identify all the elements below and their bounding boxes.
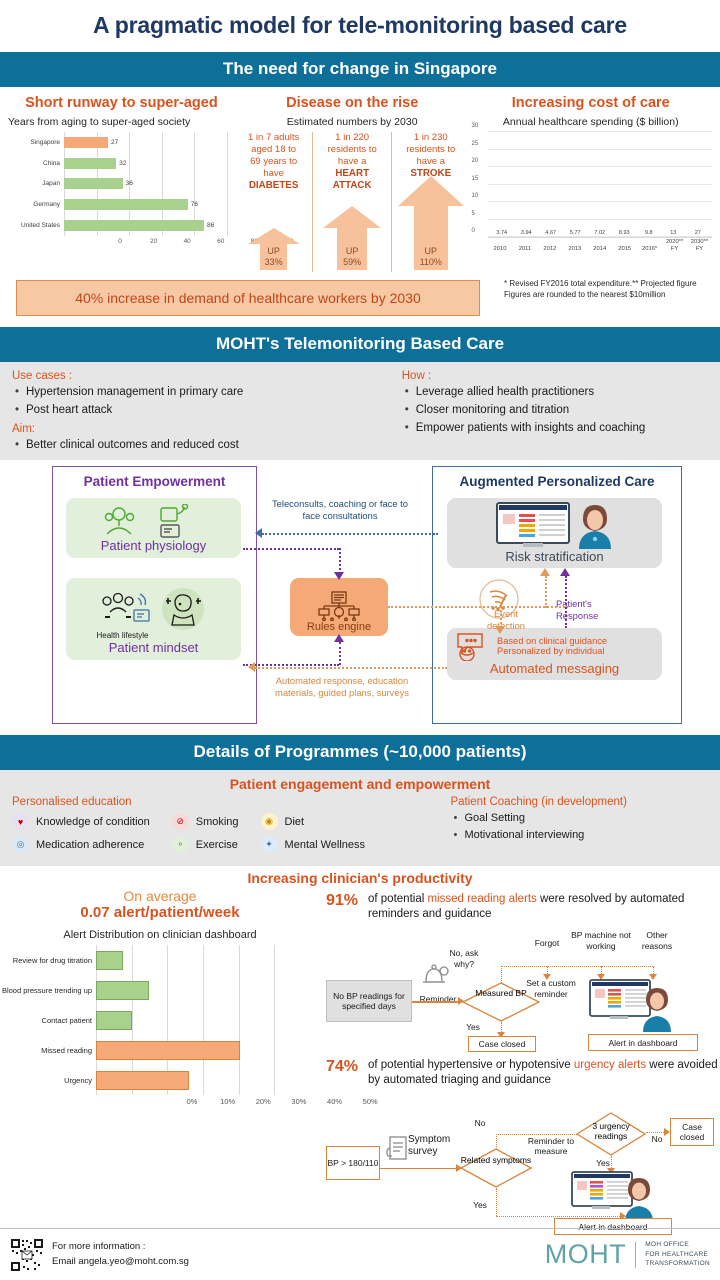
logo-sub-1: MOH OFFICE	[645, 1240, 710, 1249]
clinician-productivity-section: On average 0.07 alert/patient/week Alert…	[0, 888, 720, 1228]
education-item-label: Exercise	[196, 839, 238, 851]
connector-teleconsults	[262, 533, 438, 535]
bar-value: 4.67	[545, 230, 556, 236]
flow-label-automated-response: Automated response, education materials,…	[258, 675, 426, 699]
stat-74-text-a: of potential hypertensive or hypotensive	[368, 1059, 574, 1071]
label-risk-stratification: Risk stratification	[505, 549, 603, 568]
bar-value: 9.8	[645, 230, 653, 236]
stat-74-line: 74% of potential hypertensive or hypoten…	[320, 1058, 720, 1088]
bar-row: Singapore27	[64, 132, 227, 153]
arrow-label: UP59%	[329, 246, 375, 267]
section-need-for-change: Short runway to super-aged Years from ag…	[0, 87, 720, 316]
bar-label: United States	[8, 222, 60, 229]
axis-tick: 40	[184, 238, 191, 245]
bar	[96, 1011, 132, 1030]
bar-value: 27	[695, 230, 701, 236]
flow-label-teleconsults: Teleconsults, coaching or face to face c…	[262, 498, 418, 522]
moht-logo: MOHT MOH OFFICE FOR HEALTHCARE TRANSFORM…	[545, 1239, 710, 1270]
education-column: ♥Knowledge of condition◎Medication adher…	[12, 810, 150, 856]
avg-line-2: 0.07 alert/patient/week	[0, 904, 320, 921]
panel-title-augmented-care: Augmented Personalized Care	[433, 467, 681, 489]
stat-74-percent: 74%	[326, 1058, 368, 1076]
use-cases-block: Use cases : Hypertension management in p…	[12, 370, 402, 454]
how-heading: How :	[402, 370, 708, 382]
axis-label: 2015	[612, 239, 637, 252]
connector-physiology-to-rules	[243, 548, 339, 550]
axis-label: 2014	[587, 239, 612, 252]
bar-column: 4.67	[539, 230, 564, 237]
coaching-heading: Patient Coaching (in development)	[450, 796, 708, 808]
bar-value: 86	[207, 222, 214, 229]
axis-tick: 10	[472, 193, 479, 199]
connector-physiology-vert	[339, 548, 341, 574]
bar	[64, 158, 116, 169]
arrow-head	[248, 228, 300, 244]
connector-event-vert	[500, 606, 502, 628]
arrow-label: UP33%	[251, 246, 297, 267]
flow74-decision-2-label: 3 urgency readings	[576, 1122, 646, 1142]
stat-74-text: of potential hypertensive or hypotensive…	[368, 1058, 720, 1088]
use-case-item: Post heart attack	[12, 402, 402, 420]
bar-label: Contact patient	[0, 1016, 92, 1025]
flow91-line-top	[501, 966, 653, 967]
logo-divider	[635, 1242, 636, 1268]
bar-label: Germany	[8, 201, 60, 208]
col-cost-of-care: Increasing cost of care Annual healthcar…	[470, 95, 712, 272]
coaching-item: Goal Setting	[450, 810, 708, 827]
bar	[64, 178, 123, 189]
stat-91-text: of potential missed reading alerts were …	[368, 892, 720, 922]
bar-row: Blood pressure trending up	[96, 975, 292, 1005]
bar-column: 8.93	[612, 230, 637, 237]
disease-stat-text: 1 in 7 adultsaged 18 to69 years tohaveDI…	[248, 132, 299, 192]
bar	[96, 951, 123, 970]
bar-column: 5.77	[563, 230, 588, 237]
education-item-label: Smoking	[196, 816, 239, 828]
axis-tick: 5	[472, 211, 475, 217]
page-title: A pragmatic model for tele-monitoring ba…	[0, 0, 720, 52]
disease-stat: 1 in 7 adultsaged 18 to69 years tohaveDI…	[235, 132, 313, 272]
aim-item: Better clinical outcomes and reduced cos…	[12, 437, 402, 455]
section-band-need-for-change: The need for change in Singapore	[0, 52, 720, 87]
bar-column: 7.02	[588, 230, 613, 237]
footer-line-1: For more information :	[52, 1240, 189, 1254]
bar-column: 9.8	[637, 230, 662, 237]
footer-contact: For more information : Email angela.yeo@…	[52, 1240, 189, 1269]
education-item-label: Knowledge of condition	[36, 816, 150, 828]
gridline	[227, 132, 228, 236]
arrowhead-to-automated-msg	[495, 626, 505, 634]
flow-missed-reading: No BP readings for specified days Remind…	[320, 922, 720, 1052]
flow74-line-no-up	[496, 1134, 497, 1149]
section-band-moht: MOHT's Telemonitoring Based Care	[0, 327, 720, 362]
logo-wordmark: MOHT	[545, 1239, 626, 1270]
label-health-lifestyle: Health lifestyle	[96, 631, 148, 640]
footnote-1: * Revised FY2016 total expenditure.** Pr…	[500, 278, 697, 289]
arrow-head	[323, 206, 381, 228]
flow91-alert-dashboard: Alert in dashboard	[588, 1034, 698, 1051]
axis-label: 2016*	[637, 239, 662, 252]
arrow-shape: UP59%	[323, 206, 381, 270]
axis-tick: 30%	[291, 1097, 306, 1106]
axis-tick: 30	[472, 123, 479, 129]
flow91-reason-forgot: Forgot	[526, 938, 568, 948]
pill-icon: ◎	[12, 836, 29, 853]
col-disease-rise: Disease on the rise Estimated numbers by…	[235, 95, 470, 272]
flow74-no-label: No	[460, 1118, 500, 1128]
use-case-item: Hypertension management in primary care	[12, 384, 402, 402]
section-moht-telemonitoring: Use cases : Hypertension management in p…	[0, 362, 720, 460]
bar	[96, 1041, 240, 1060]
section-programmes: Patient engagement and empowerment Perso…	[0, 770, 720, 866]
bar-row: Review for drug titration	[96, 945, 292, 975]
arrowhead-automated-back	[248, 662, 255, 672]
panel-title-patient-empowerment: Patient Empowerment	[53, 467, 256, 489]
disease-stat: 1 in 220residents tohave aHEARTATTACKUP5…	[312, 132, 391, 272]
education-item-label: Mental Wellness	[285, 839, 366, 851]
footer-line-2: Email angela.yeo@moht.com.sg	[52, 1255, 189, 1269]
education-item: ◎Medication adherence	[12, 833, 150, 856]
logo-sub-2: FOR HEALTHCARE	[645, 1250, 710, 1259]
card-patient-physiology: Patient physiology	[66, 498, 241, 558]
label-patient-physiology: Patient physiology	[101, 538, 207, 558]
card-patient-mindset: Health lifestyle Patient mindset	[66, 578, 241, 660]
arrow-shape: UP33%	[248, 228, 300, 270]
chat-bot-icon	[455, 631, 493, 661]
no-smoking-icon: ⊘	[172, 813, 189, 830]
flow91-line-start-to-decision	[412, 1001, 460, 1002]
subheading-disease: Disease on the rise	[235, 95, 470, 111]
automated-messaging-sub1: Based on clinical guidance	[497, 636, 607, 646]
flow-label-event-detection: Event detection	[476, 608, 536, 632]
flow74-decision-1-label: Related symptoms	[460, 1156, 532, 1166]
infographic-page: A pragmatic model for tele-monitoring ba…	[0, 0, 720, 1280]
connector-rules-to-event	[388, 606, 568, 608]
bar-value: 3.74	[496, 230, 507, 236]
axis-tick: 0	[118, 238, 122, 245]
up-arrow: UP110%	[398, 176, 464, 270]
bar-row: Missed reading	[96, 1035, 292, 1065]
chart-spending: 0510152025303.743.944.675.777.028.939.81…	[470, 132, 712, 262]
disease-stat-text: 1 in 230residents tohave aSTROKE	[406, 132, 455, 180]
axis-label: 2011	[512, 239, 537, 252]
axis-tick: 25	[472, 141, 479, 147]
bar-label: China	[8, 160, 60, 167]
mental-wellness-icon: ✦	[261, 836, 278, 853]
card-risk-stratification: Risk stratification	[447, 498, 662, 568]
bar-value: 36	[126, 180, 133, 187]
bar-value: 5.77	[570, 230, 581, 236]
bar-value: 32	[119, 160, 126, 167]
flow91-reason-other: Other reasons	[634, 930, 680, 950]
node-rules-engine: Rules engine	[290, 578, 388, 636]
qr-code-icon	[10, 1238, 44, 1272]
connector-mindset-vert	[339, 642, 341, 665]
col-short-runway: Short runway to super-aged Years from ag…	[8, 95, 235, 272]
engagement-heading: Patient engagement and empowerment	[0, 770, 720, 796]
chart-runway: Singapore27China32Japan36Germany76United…	[8, 132, 235, 254]
bar-row: Germany76	[64, 194, 227, 215]
flow91-custom-reminder: Set a custom reminder	[524, 978, 578, 998]
arrow-head	[398, 176, 464, 206]
axis-tick: 0%	[187, 1097, 198, 1106]
bar-row: China32	[64, 153, 227, 174]
bar-label: Blood pressure trending up	[0, 986, 92, 995]
bar-column: 27	[686, 230, 711, 237]
education-item: ♥Knowledge of condition	[12, 810, 150, 833]
arrow-label: UP110%	[408, 246, 454, 267]
care-model-diagram: Patient Empowerment Patient physiology	[0, 460, 720, 735]
bar-label: Review for drug titration	[0, 956, 92, 965]
axis-tick: 0	[472, 228, 475, 234]
flow74-yes2-label: Yes	[588, 1158, 618, 1168]
stat-91-percent: 91%	[326, 892, 368, 910]
alert-chart-caption: Alert Distribution on clinician dashboar…	[0, 921, 320, 945]
use-cases-heading: Use cases :	[12, 370, 402, 382]
bar-value: 3.94	[521, 230, 532, 236]
bar-row: Japan36	[64, 174, 227, 195]
axis-tick: 20	[150, 238, 157, 245]
bar	[64, 220, 204, 231]
axis-tick: 60	[217, 238, 224, 245]
caption-disease: Estimated numbers by 2030	[235, 116, 470, 128]
bar-value: 8.93	[619, 230, 630, 236]
aim-heading: Aim:	[12, 423, 402, 435]
axis-tick: 20%	[256, 1097, 271, 1106]
coaching-item: Motivational interviewing	[450, 827, 708, 844]
clinician-productivity-heading: Increasing clinician's productivity	[0, 866, 720, 888]
flow74-dashboard-icon	[570, 1170, 660, 1222]
symptom-survey-icon	[384, 1134, 410, 1164]
caption-runway-chart: Years from aging to super-aged society	[8, 116, 235, 128]
card-automated-messaging: Based on clinical guidance Personalized …	[447, 628, 662, 680]
bar-column: 3.74	[490, 230, 515, 237]
bar-label: Urgency	[0, 1076, 92, 1085]
footnote-2: Figures are rounded to the nearest $10mi…	[500, 289, 697, 300]
dashboard-monitor-icon	[495, 501, 575, 549]
flow74-line-yes-down	[496, 1188, 497, 1216]
how-block: How : Leverage allied health practitione…	[402, 370, 708, 454]
bar	[64, 137, 108, 148]
flow74-yes-label: Yes	[460, 1200, 500, 1210]
axis-tick: 15	[472, 176, 479, 182]
flow74-decision-2: 3 urgency readings	[576, 1112, 646, 1156]
education-item: ◉Diet	[261, 810, 366, 833]
how-item: Empower patients with insights and coach…	[402, 420, 708, 438]
label-patient-mindset: Patient mindset	[109, 640, 199, 660]
education-column: ◉Diet✦Mental Wellness	[261, 810, 366, 856]
bar-row: Contact patient	[96, 1005, 292, 1035]
flow91-line-up	[501, 966, 502, 983]
logo-sub-3: TRANSFORMATION	[645, 1259, 710, 1268]
connector-patient-response	[565, 576, 567, 628]
heart-lungs-icon: ♥	[12, 813, 29, 830]
arrowhead-to-rules-engine	[334, 572, 344, 580]
bar-label: Missed reading	[0, 1046, 92, 1055]
bar-column: 13	[661, 230, 686, 237]
arrowhead-event-up	[540, 568, 550, 576]
flow74-start: BP > 180/110	[326, 1146, 380, 1180]
education-item: ✦Mental Wellness	[261, 833, 366, 856]
flow91-yes-label: Yes	[460, 1022, 486, 1032]
bar-label: Singapore	[8, 139, 60, 146]
logo-subtext: MOH OFFICE FOR HEALTHCARE TRANSFORMATION	[645, 1240, 710, 1268]
flow-urgency-alerts: BP > 180/110 Symptom survey Related symp…	[320, 1088, 720, 1228]
bar	[96, 981, 149, 1000]
subheading-cost: Increasing cost of care	[470, 95, 712, 111]
caption-spending: Annual healthcare spending ($ billion)	[470, 116, 712, 128]
callout-workforce: 40% increase in demand of healthcare wor…	[16, 280, 480, 316]
patient-physiology-icon	[99, 504, 209, 538]
flow74-case-closed: Case closed	[670, 1118, 714, 1146]
section-band-programmes: Details of Programmes (~10,000 patients)	[0, 735, 720, 770]
axis-tick: 10%	[220, 1097, 235, 1106]
disease-stat: 1 in 230residents tohave aSTROKEUP110%	[391, 132, 470, 272]
axis-label: 2010	[488, 239, 513, 252]
education-item-label: Diet	[285, 816, 305, 828]
education-item: ⚬Exercise	[172, 833, 239, 856]
stat-91-highlight: missed reading alerts	[427, 893, 536, 905]
connector-event-to-risk	[545, 576, 547, 608]
bar	[96, 1071, 189, 1090]
connector-automated-back	[255, 667, 447, 669]
alert-distribution-block: On average 0.07 alert/patient/week Alert…	[0, 888, 320, 1228]
education-item: ⊘Smoking	[172, 810, 239, 833]
arrowhead-patient-response	[560, 568, 570, 576]
avg-line-1: On average	[0, 888, 320, 904]
stat-91-line: 91% of potential missed reading alerts w…	[320, 892, 720, 922]
axis-label: 2030**FY	[687, 239, 712, 252]
bar-row: Urgency	[96, 1065, 292, 1095]
flow74-survey-label: Symptom survey	[408, 1134, 460, 1158]
education-column: ⊘Smoking⚬Exercise	[172, 810, 239, 856]
flow91-reason-machine: BP machine not working	[570, 930, 632, 950]
bar	[64, 199, 188, 210]
stat-74-highlight: urgency alerts	[574, 1059, 646, 1071]
flow91-dashboard-icon	[588, 978, 678, 1032]
disease-arrows-group: 1 in 7 adultsaged 18 to69 years tohaveDI…	[235, 132, 470, 272]
up-arrow: UP59%	[323, 206, 381, 270]
diet-icon: ◉	[261, 813, 278, 830]
bar-value: 7.02	[594, 230, 605, 236]
stat-91-text-a: of potential	[368, 893, 427, 905]
flow91-reminder-label: Reminder	[416, 994, 460, 1004]
automated-messaging-sub2: Personalized by individual	[497, 646, 607, 656]
personalised-education-block: Personalised education ♥Knowledge of con…	[12, 796, 450, 856]
bar-value: 27	[111, 139, 118, 146]
up-arrow: UP33%	[248, 228, 300, 270]
clinician-avatar-icon	[575, 501, 615, 549]
bar-value: 76	[191, 201, 198, 208]
arrow-shape: UP110%	[398, 176, 464, 270]
education-heading: Personalised education	[12, 796, 450, 808]
axis-label: 2013	[562, 239, 587, 252]
connector-mindset-to-rules	[243, 664, 339, 666]
patient-mindset-icon	[158, 587, 208, 631]
page-footer: For more information : Email angela.yeo@…	[0, 1228, 720, 1280]
cycling-icon: ⚬	[172, 836, 189, 853]
health-lifestyle-icon	[100, 590, 158, 628]
how-item: Closer monitoring and titration	[402, 402, 708, 420]
flow-blocks: 91% of potential missed reading alerts w…	[320, 888, 720, 1228]
disease-stat-text: 1 in 220residents tohave aHEARTATTACK	[328, 132, 377, 192]
arrowhead-teleconsults	[255, 528, 262, 538]
axis-tick: 20	[472, 158, 479, 164]
flow91-no-label: No, ask why?	[440, 948, 488, 968]
arrowhead-rules-up	[334, 634, 344, 642]
label-automated-messaging: Automated messaging	[490, 661, 619, 678]
subheading-short-runway: Short runway to super-aged	[8, 95, 235, 111]
bar-column: 3.94	[514, 230, 539, 237]
patient-coaching-block: Patient Coaching (in development) Goal S…	[450, 796, 708, 856]
education-item-label: Medication adherence	[36, 839, 144, 851]
how-item: Leverage allied health practitioners	[402, 384, 708, 402]
rules-engine-icon	[315, 591, 363, 621]
flow74-line-start	[380, 1168, 458, 1169]
flow91-start: No BP readings for specified days	[326, 980, 412, 1022]
flow91-case-closed: Case closed	[468, 1036, 536, 1052]
bar-value: 13	[670, 230, 676, 236]
bar-label: Japan	[8, 180, 60, 187]
axis-label: 2020**FY	[662, 239, 687, 252]
chart-alert-distribution: Review for drug titrationBlood pressure …	[0, 945, 320, 1115]
bar-row: United States86	[64, 215, 227, 236]
axis-label: 2012	[537, 239, 562, 252]
